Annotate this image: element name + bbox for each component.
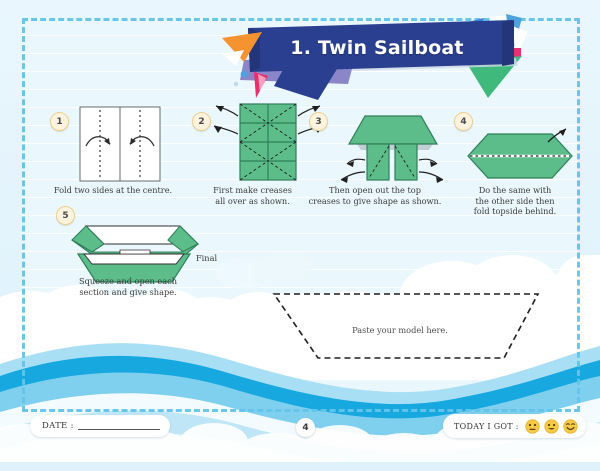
page-title: 1. Twin Sailboat — [262, 28, 492, 68]
banner-fold-right — [502, 20, 514, 66]
title-banner: 1. Twin Sailboat — [222, 14, 532, 106]
step-number-1: 1 — [50, 112, 69, 131]
step-5-caption: Squeeze and open each section and give s… — [48, 276, 208, 297]
final-label: Final — [196, 253, 217, 263]
happy-face-icon[interactable] — [563, 419, 578, 434]
smiling-face-icon[interactable] — [544, 419, 559, 434]
step-3-caption: Then open out the top creases to give sh… — [300, 185, 450, 206]
today-i-got-label: TODAY I GOT : — [454, 422, 519, 431]
blue-dot-2-icon — [234, 82, 238, 86]
date-label: DATE : — [42, 421, 74, 431]
step-4-caption: Do the same with the other side then fol… — [450, 185, 580, 217]
step-2-caption: First make creases all over as shown. — [190, 185, 315, 206]
neutral-face-icon[interactable] — [525, 419, 540, 434]
date-field[interactable]: DATE : — [30, 415, 170, 437]
blue-dot-icon — [241, 71, 248, 78]
step-number-5: 5 — [56, 206, 75, 225]
step-3-diagram — [325, 104, 465, 186]
step-number-3: 3 — [309, 112, 328, 131]
today-i-got-rating[interactable]: TODAY I GOT : — [443, 414, 586, 438]
step-1-diagram — [70, 104, 190, 186]
page-number-badge: 4 — [296, 418, 315, 437]
step-1-caption: Fold two sides at the centre. — [48, 185, 178, 196]
step-number-4: 4 — [454, 112, 473, 131]
step-4-diagram — [462, 112, 592, 194]
step-number-2: 2 — [192, 112, 211, 131]
date-input-line[interactable] — [78, 420, 160, 430]
worksheet-page: 1. Twin Sailboat 1 Fold two sides at the… — [0, 0, 600, 471]
paste-area-label: Paste your model here. — [300, 325, 500, 335]
